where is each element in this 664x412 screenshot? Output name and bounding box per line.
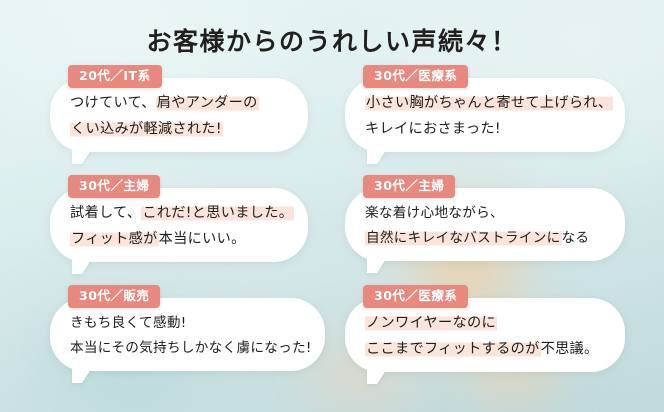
testimonial-line: 試着して、これだ!と思いました。 (70, 205, 288, 222)
testimonial-badge: 30代／医療系 (363, 65, 468, 88)
testimonial-line: 本当にその気持ちしかなく虜になった! (70, 340, 305, 356)
speech-bubble-tail (367, 370, 386, 384)
highlighted-text: これだ!と思いました。 (141, 205, 294, 221)
plain-text: 試着して、 (70, 205, 141, 221)
testimonial-badge: 30代／主婦 (363, 175, 455, 198)
testimonial-text: 楽な着け心地ながら、自然にキレイなバストラインになる (345, 188, 625, 261)
highlighted-text: 小さい胸がちゃんと寄せて上げられ、 (365, 95, 613, 111)
testimonial-text: きもち良くて感動!本当にその気持ちしかなく虜になった! (50, 298, 325, 371)
testimonial-card: 30代／販売きもち良くて感動!本当にその気持ちしかなく虜になった! (50, 298, 325, 371)
testimonial-line: 自然にキレイなバストラインになる (365, 230, 605, 246)
plain-text: 本当にいい。 (159, 231, 246, 247)
testimonial-line: きもち良くて感動! (70, 315, 305, 331)
plain-text: なる (562, 230, 590, 246)
testimonial-line: フィット感が本当にいい。 (70, 231, 288, 248)
highlighted-text: 自然にキレイなバストラインに (365, 230, 562, 246)
testimonial-text: ノンワイヤーなのにここまでフィットするのが不思議。 (345, 298, 625, 372)
highlighted-text: ここまでフィットするのが (365, 341, 541, 357)
highlighted-text: 肩やアンダーの (156, 95, 259, 111)
speech-bubble-tail (367, 259, 386, 273)
testimonial-badge: 30代／販売 (68, 285, 160, 308)
speech-bubble-tail (72, 369, 91, 383)
plain-text: きもち良くて感動! (70, 315, 187, 331)
plain-text: つけていて、 (70, 95, 156, 111)
speech-bubble-tail (72, 150, 91, 164)
testimonial-line: ここまでフィットするのが不思議。 (365, 341, 605, 358)
plain-text: 不思議。 (541, 341, 599, 357)
testimonial-card: 30代／医療系小さい胸がちゃんと寄せて上げられ、キレイにおさまった! (345, 78, 625, 152)
testimonial-text: つけていて、肩やアンダーのくい込みが軽減された! (50, 78, 308, 152)
testimonial-text: 小さい胸がちゃんと寄せて上げられ、キレイにおさまった! (345, 78, 625, 152)
testimonial-badge: 30代／医療系 (363, 285, 468, 308)
highlighted-text: ノンワイヤーなのに (365, 315, 497, 331)
testimonial-text: 試着して、これだ!と思いました。フィット感が本当にいい。 (50, 188, 308, 262)
testimonial-line: つけていて、肩やアンダーの (70, 95, 288, 112)
testimonial-line: くい込みが軽減された! (70, 121, 288, 138)
testimonial-line: 楽な着け心地ながら、 (365, 205, 605, 221)
testimonial-badge: 30代／主婦 (68, 175, 160, 198)
testimonial-card: 20代／IT系つけていて、肩やアンダーのくい込みが軽減された! (50, 78, 308, 152)
testimonial-line: 小さい胸がちゃんと寄せて上げられ、 (365, 95, 605, 112)
testimonial-badge: 20代／IT系 (68, 65, 162, 88)
testimonial-card: 30代／医療系ノンワイヤーなのにここまでフィットするのが不思議。 (345, 298, 625, 372)
speech-bubble-tail (72, 260, 91, 274)
testimonial-card: 30代／主婦試着して、これだ!と思いました。フィット感が本当にいい。 (50, 188, 308, 262)
highlighted-text: くい込みが軽減された! (70, 121, 223, 137)
plain-text: 楽な着け心地ながら、 (365, 205, 504, 221)
page-title: お客様からのうれしい声続々！ (0, 22, 664, 58)
testimonial-line: キレイにおさまった! (365, 121, 605, 138)
plain-text: 本当にその気持ちしかなく虜になった! (70, 340, 312, 356)
speech-bubble-tail (367, 150, 386, 164)
highlighted-text: フィット感が (70, 231, 159, 247)
testimonial-list: 20代／IT系つけていて、肩やアンダーのくい込みが軽減された!30代／医療系小さ… (0, 0, 664, 412)
plain-text: キレイにおさまった! (365, 121, 501, 137)
testimonial-line: ノンワイヤーなのに (365, 315, 605, 332)
testimonial-card: 30代／主婦楽な着け心地ながら、自然にキレイなバストラインになる (345, 188, 625, 261)
